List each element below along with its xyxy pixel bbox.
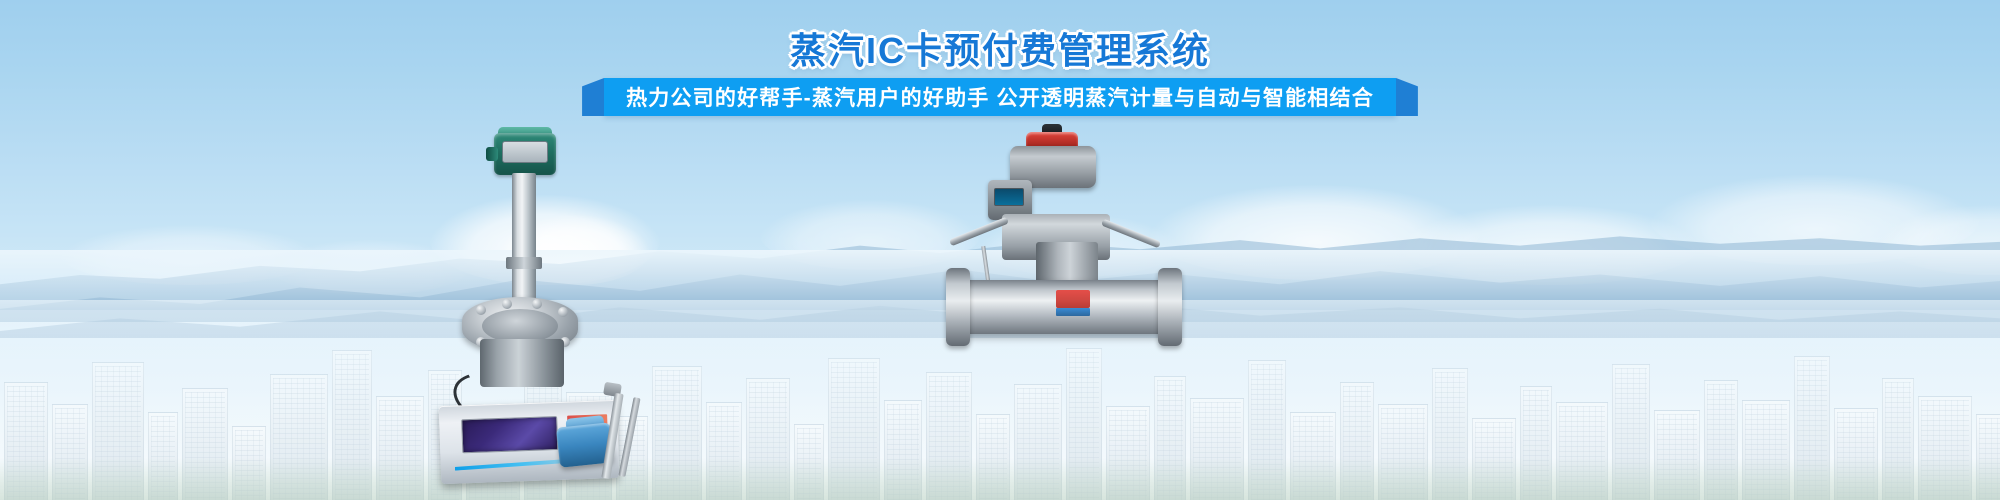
hero-title-container: 蒸汽IC卡预付费管理系统 <box>0 22 2000 74</box>
valve-positioner-window <box>994 188 1024 206</box>
product-hero-banner: 蒸汽IC卡预付费管理系统 热力公司的好帮手-蒸汽用户的好助手 公开透明蒸汽计量与… <box>0 0 2000 500</box>
controller-lcd-screen <box>461 416 558 453</box>
flowmeter-knob <box>486 147 498 161</box>
flowmeter-display-face <box>502 141 548 163</box>
flange-bolt-icon <box>532 299 542 309</box>
ribbon-tail-left-icon <box>582 78 604 116</box>
subtitle-ribbon-body: 热力公司的好帮手-蒸汽用户的好助手 公开透明蒸汽计量与自动与智能相结合 <box>604 78 1396 116</box>
flange-bolt-icon <box>558 307 568 317</box>
subtitle-ribbon: 热力公司的好帮手-蒸汽用户的好助手 公开透明蒸汽计量与自动与智能相结合 <box>0 78 2000 116</box>
flowmeter-collar <box>506 257 542 269</box>
ribbon-tail-right-icon <box>1396 78 1418 116</box>
flange-bolt-icon <box>476 305 486 315</box>
valve-flange-right <box>1158 268 1182 346</box>
flange-bolt-icon <box>502 299 512 309</box>
valve-flange-left <box>946 268 970 346</box>
flowmeter-flange-inner <box>482 309 558 343</box>
flowmeter-neck <box>512 173 536 301</box>
valve-label-tag-secondary <box>1056 308 1090 316</box>
temperature-probe-secondary <box>618 397 640 477</box>
valve-label-tag <box>1056 290 1090 308</box>
vortex-flowmeter-product-image <box>440 125 680 500</box>
page-subtitle: 热力公司的好帮手-蒸汽用户的好助手 公开透明蒸汽计量与自动与智能相结合 <box>626 82 1374 112</box>
page-title: 蒸汽IC卡预付费管理系统 <box>790 22 1210 74</box>
control-valve-product-image <box>940 118 1190 376</box>
tree-line <box>0 458 2000 500</box>
valve-tie-rod <box>949 217 1009 247</box>
